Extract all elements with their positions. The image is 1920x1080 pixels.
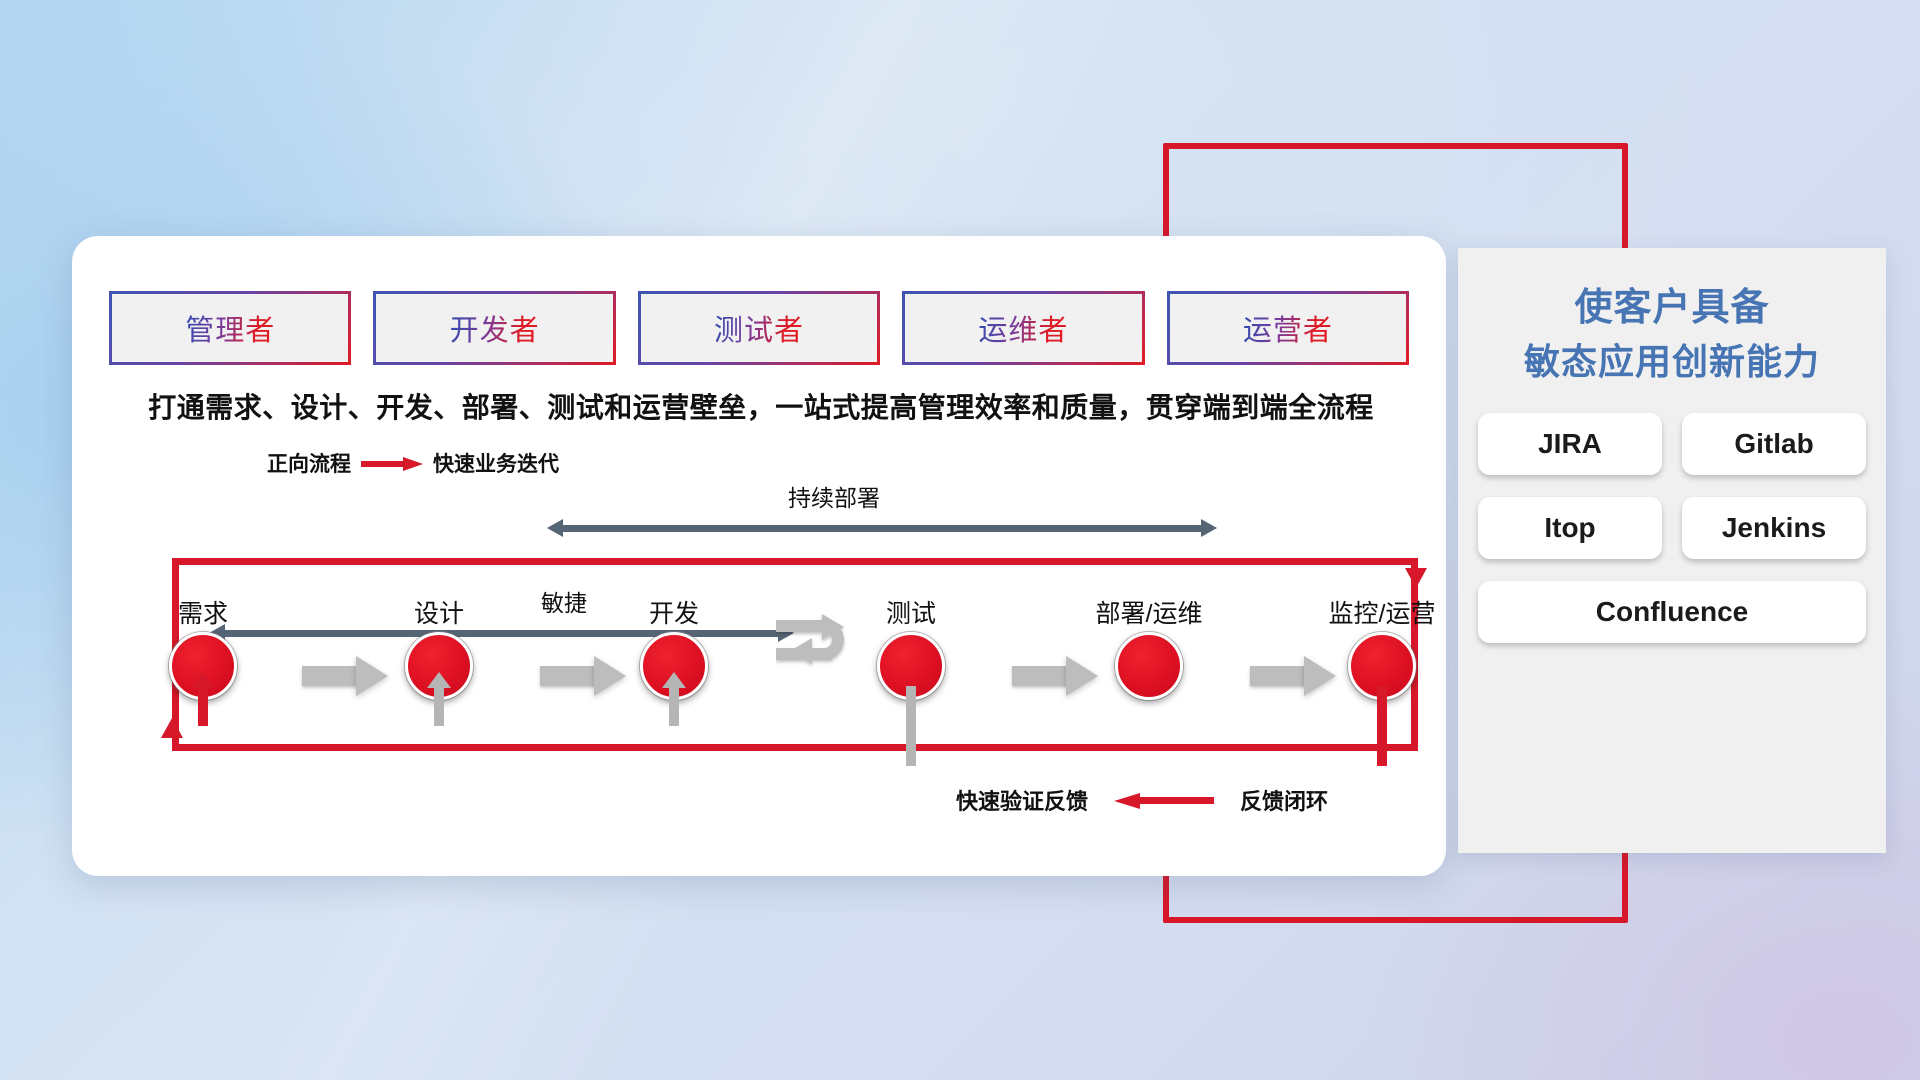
stage-monitor-operations[interactable]: 监控/运营 [1317,594,1447,700]
role-box-tester[interactable]: 测试者 [641,294,877,362]
panel-title-line2: 敏态应用创新能力 [1458,336,1886,387]
panel-title: 使客户具备 敏态应用创新能力 [1458,248,1886,387]
panel-title-line1: 使客户具备 [1458,282,1886,336]
double-headed-arrow-icon-continuous-deployment [547,519,1217,537]
feedback-legend: 快速验证反馈 反馈闭环 [956,784,1328,816]
role-box-operations[interactable]: 运营者 [1170,294,1406,362]
stage-stem-gray [669,686,679,726]
stage-design[interactable]: 设计 [374,594,504,700]
feedback-right-label: 反馈闭环 [1240,784,1328,816]
stage-label: 监控/运营 [1317,594,1447,630]
legend-forward-left-label: 正向流程 [267,448,351,478]
tool-list: JIRA Gitlab Itop Jenkins Confluence [1478,413,1866,643]
capability-panel: 使客户具备 敏态应用创新能力 JIRA Gitlab Itop Jenkins … [1458,248,1886,853]
role-label: 管理者 [185,307,275,349]
u-turn-loop-arrow-icon [776,614,876,682]
tool-jira[interactable]: JIRA [1478,413,1662,475]
stage-stem-gray [434,686,444,726]
role-label: 开发者 [450,307,540,349]
role-box-row: 管理者 开发者 测试者 运维者 运营者 [112,294,1406,362]
feedback-left-label: 快速验证反馈 [956,784,1088,816]
span-label-continuous-deployment: 持续部署 [788,479,880,513]
stage-dot-icon [1115,632,1183,700]
stage-label: 设计 [374,594,504,630]
role-box-developer[interactable]: 开发者 [376,294,612,362]
stage-row: 需求 设计 开发 测试 部署/运维 监控/运营 [112,594,1412,744]
devops-flow-card: 管理者 开发者 测试者 运维者 运营者 打通需求、设计、开发、部署、测试和运营壁… [72,236,1446,876]
legend-forward-flow: 正向流程 快速业务迭代 [267,448,559,478]
stage-requirement[interactable]: 需求 [138,594,268,700]
red-loop-arrow-down-icon [1405,568,1427,588]
role-label: 测试者 [714,307,804,349]
red-arrow-left-icon [1114,793,1214,808]
stage-label: 开发 [609,594,739,630]
red-arrow-right-icon [361,457,423,470]
stage-development[interactable]: 开发 [609,594,739,700]
stage-deploy-ops[interactable]: 部署/运维 [1084,594,1214,700]
stage-stem-red [1377,686,1387,766]
legend-forward-right-label: 快速业务迭代 [433,448,559,478]
tool-jenkins[interactable]: Jenkins [1682,497,1866,559]
tool-gitlab[interactable]: Gitlab [1682,413,1866,475]
role-label: 运维者 [978,307,1068,349]
stage-stem-red [198,686,208,726]
role-label: 运营者 [1243,307,1333,349]
role-box-manager[interactable]: 管理者 [112,294,348,362]
tool-itop[interactable]: Itop [1478,497,1662,559]
tool-confluence[interactable]: Confluence [1478,581,1866,643]
role-box-ops[interactable]: 运维者 [905,294,1141,362]
card-description: 打通需求、设计、开发、部署、测试和运营壁垒，一站式提高管理效率和质量，贯穿端到端… [116,386,1406,426]
stage-stem-gray [906,686,916,766]
stage-label: 需求 [138,594,268,630]
stage-label: 部署/运维 [1084,594,1214,630]
